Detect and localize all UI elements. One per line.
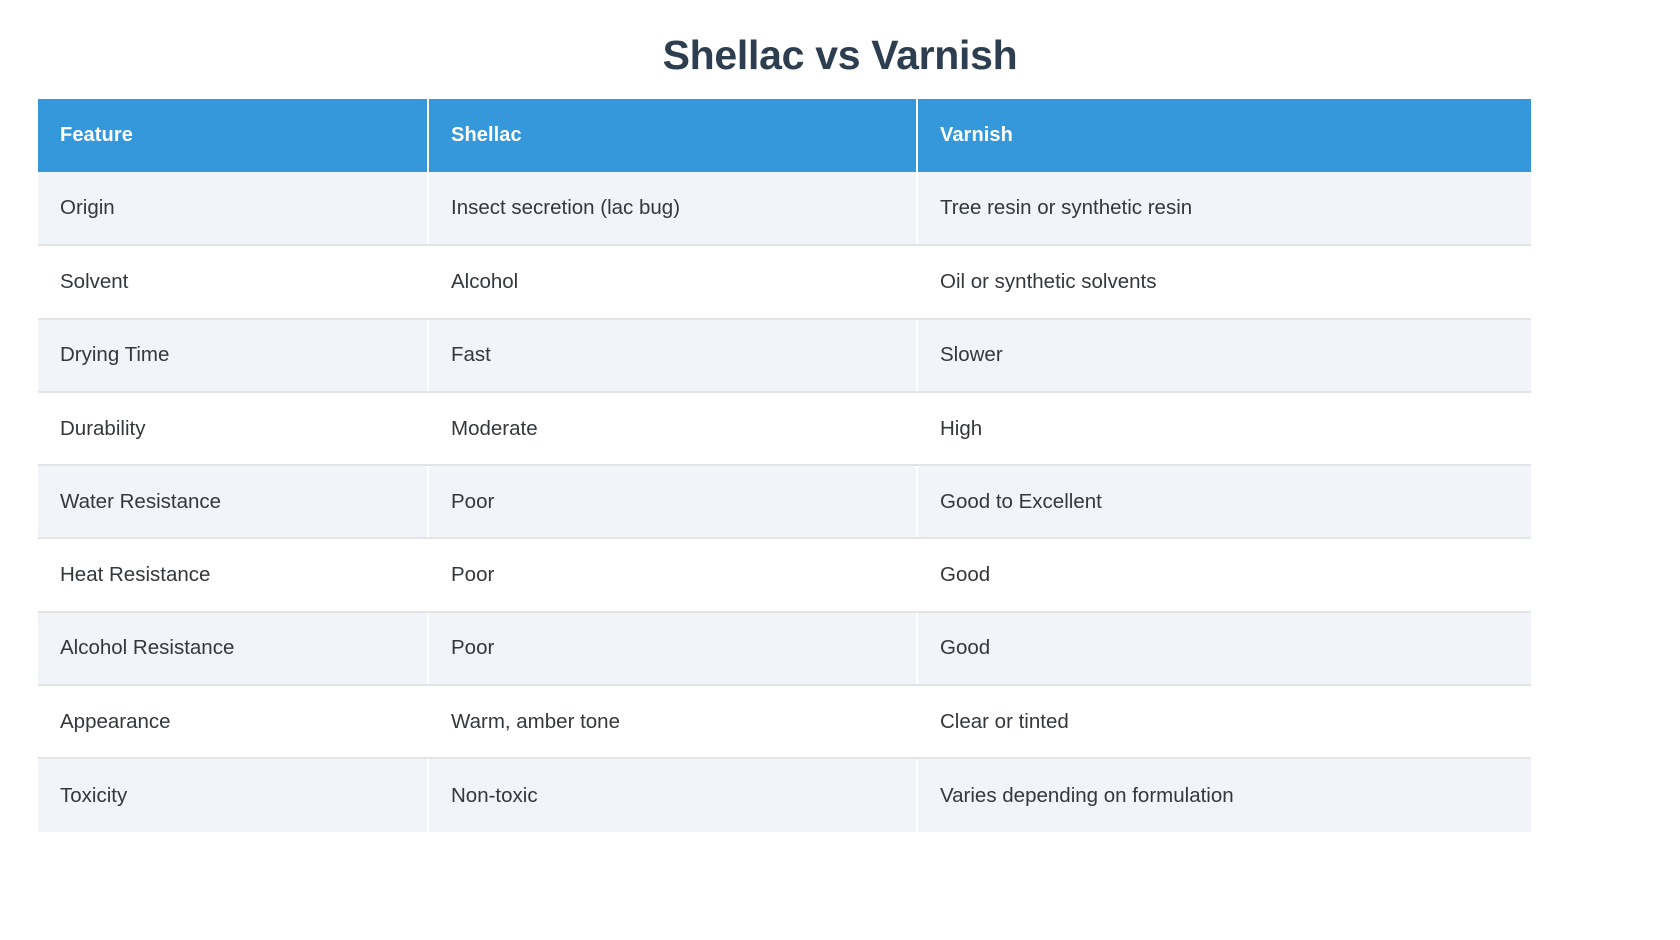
table-row: Alcohol ResistancePoorGood [38,612,1531,685]
table-cell: Insect secretion (lac bug) [428,172,917,245]
table-cell: High [917,392,1531,465]
comparison-table: Feature Shellac Varnish OriginInsect sec… [38,99,1531,832]
table-cell: Good to Excellent [917,465,1531,538]
table-cell: Good [917,538,1531,611]
comparison-page: Shellac vs Varnish Feature Shellac Varni… [0,0,1680,940]
comparison-table-container: Feature Shellac Varnish OriginInsect sec… [38,99,1531,832]
table-row: SolventAlcoholOil or synthetic solvents [38,245,1531,318]
table-cell: Warm, amber tone [428,685,917,758]
table-cell: Poor [428,538,917,611]
table-row: Water ResistancePoorGood to Excellent [38,465,1531,538]
table-cell: Slower [917,319,1531,392]
table-row: ToxicityNon-toxicVaries depending on for… [38,758,1531,831]
row-feature-label: Heat Resistance [38,538,428,611]
table-cell: Non-toxic [428,758,917,831]
row-feature-label: Solvent [38,245,428,318]
table-cell: Tree resin or synthetic resin [917,172,1531,245]
row-feature-label: Water Resistance [38,465,428,538]
table-body: OriginInsect secretion (lac bug)Tree res… [38,172,1531,832]
table-row: AppearanceWarm, amber toneClear or tinte… [38,685,1531,758]
table-header-row: Feature Shellac Varnish [38,99,1531,172]
row-feature-label: Toxicity [38,758,428,831]
row-feature-label: Drying Time [38,319,428,392]
table-row: Heat ResistancePoorGood [38,538,1531,611]
row-feature-label: Durability [38,392,428,465]
row-feature-label: Appearance [38,685,428,758]
table-row: Drying TimeFastSlower [38,319,1531,392]
table-cell: Varies depending on formulation [917,758,1531,831]
row-feature-label: Alcohol Resistance [38,612,428,685]
column-header-varnish: Varnish [917,99,1531,172]
table-cell: Poor [428,465,917,538]
table-row: DurabilityModerateHigh [38,392,1531,465]
table-cell: Oil or synthetic solvents [917,245,1531,318]
table-header: Feature Shellac Varnish [38,99,1531,172]
table-cell: Alcohol [428,245,917,318]
table-cell: Poor [428,612,917,685]
page-title: Shellac vs Varnish [0,0,1680,81]
table-cell: Good [917,612,1531,685]
column-header-shellac: Shellac [428,99,917,172]
column-header-feature: Feature [38,99,428,172]
table-cell: Moderate [428,392,917,465]
table-row: OriginInsect secretion (lac bug)Tree res… [38,172,1531,245]
table-cell: Clear or tinted [917,685,1531,758]
row-feature-label: Origin [38,172,428,245]
table-cell: Fast [428,319,917,392]
